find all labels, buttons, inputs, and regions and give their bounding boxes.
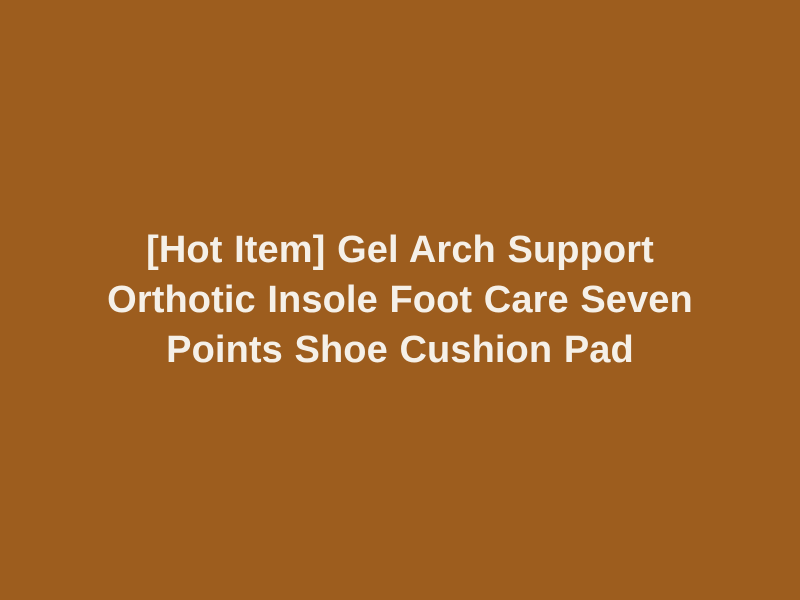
title-card-canvas: [Hot Item] Gel Arch Support Orthotic Ins… [0,0,800,600]
product-title-block: [Hot Item] Gel Arch Support Orthotic Ins… [50,225,750,375]
product-title: [Hot Item] Gel Arch Support Orthotic Ins… [72,225,728,375]
